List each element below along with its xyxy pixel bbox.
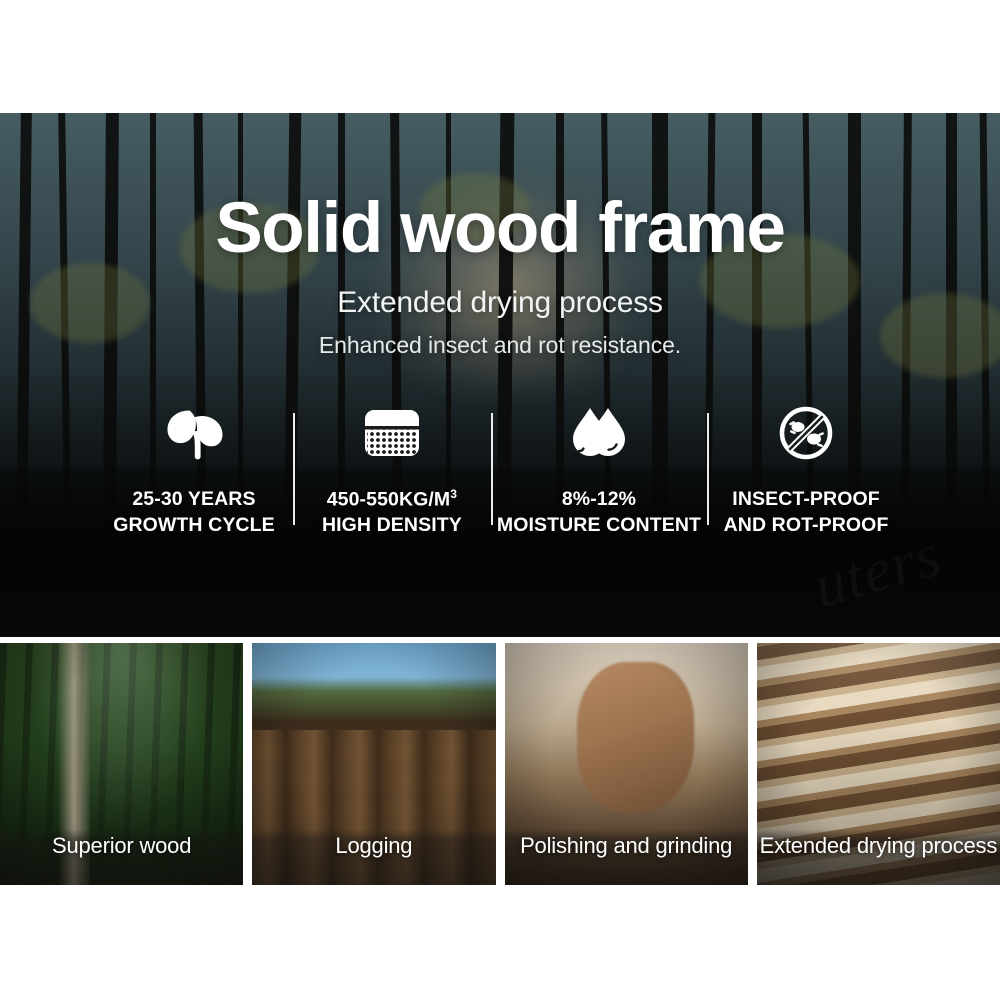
gallery-tile-logging[interactable]: Logging bbox=[252, 643, 495, 885]
hero-tagline: Enhanced insect and rot resistance. bbox=[0, 320, 1000, 359]
gallery-caption: Extended drying process bbox=[757, 833, 1000, 859]
gallery-caption: Logging bbox=[252, 833, 495, 859]
gallery-caption: Polishing and grinding bbox=[505, 833, 748, 859]
hero-subtitle: Extended drying process bbox=[0, 264, 1000, 320]
hero-content: Solid wood frame Extended drying process… bbox=[0, 113, 1000, 637]
page-title: Solid wood frame bbox=[0, 113, 1000, 264]
gallery-caption: Superior wood bbox=[0, 833, 243, 859]
gallery-tile-superior-wood[interactable]: Superior wood bbox=[0, 643, 243, 885]
process-gallery: Superior wood Logging Polishing and grin… bbox=[0, 643, 1000, 885]
hero-banner: uters Solid wood frame Extended drying p… bbox=[0, 113, 1000, 637]
gallery-tile-drying[interactable]: Extended drying process bbox=[757, 643, 1000, 885]
gallery-tile-polishing[interactable]: Polishing and grinding bbox=[505, 643, 748, 885]
